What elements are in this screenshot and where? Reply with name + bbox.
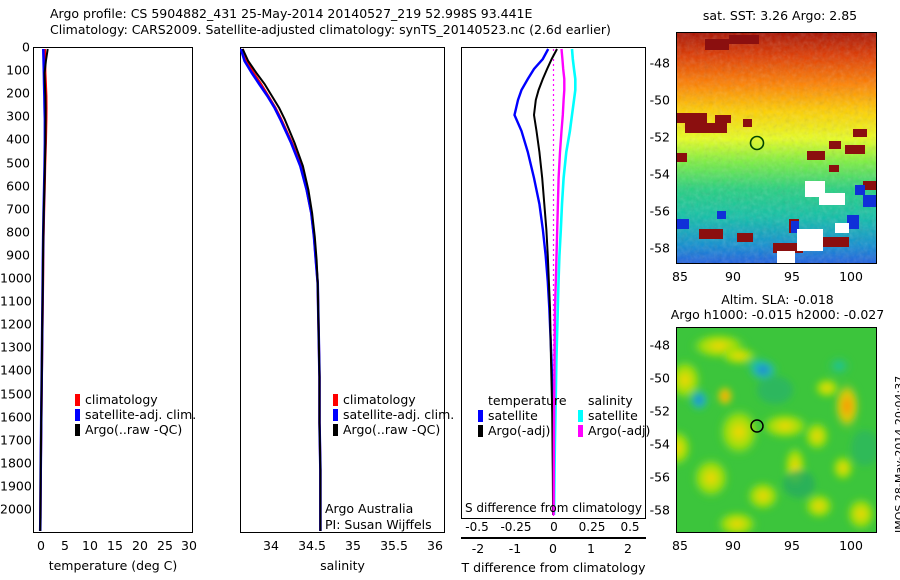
legend-item: satellite <box>478 408 567 423</box>
sst-y-tick: -54 <box>640 167 670 182</box>
legend-swatch-s-argo-adj <box>578 425 583 437</box>
temperature-x-axis-label: temperature (deg C) <box>33 558 193 573</box>
legend-item: Argo(..raw -QC) <box>333 422 454 437</box>
s-x-tick: 0.5 <box>620 520 639 534</box>
legend-item: satellite-adj. clim. <box>333 407 454 422</box>
x-tick: 0 <box>37 538 45 553</box>
sst-x-tick: 85 <box>672 269 688 284</box>
sla-x-tick: 85 <box>672 538 688 553</box>
salinity-legend: climatology satellite-adj. clim. Argo(..… <box>333 392 454 437</box>
x-tick: 20 <box>132 538 148 553</box>
sla-map-title: Altim. SLA: -0.018 Argo h1000: -0.015 h2… <box>655 292 900 322</box>
sla-x-tick: 100 <box>839 538 863 553</box>
t-difference-axis-line <box>461 537 646 539</box>
salinity-satellite-diff-line <box>554 49 575 515</box>
sst-map-image <box>677 33 876 263</box>
legend-header-temperature: temperature <box>488 393 567 408</box>
y-tick: 200 <box>0 86 30 101</box>
legend-swatch-satellite-adj <box>333 409 338 421</box>
sla-map-panel <box>676 327 877 533</box>
x-tick: 35 <box>345 538 361 553</box>
title-line-2: Climatology: CARS2009. Satellite-adjuste… <box>50 22 611 38</box>
y-tick: 700 <box>0 201 30 216</box>
legend-swatch-argo-raw <box>75 424 80 436</box>
sla-x-tick: 90 <box>725 538 741 553</box>
sla-y-tick: -48 <box>640 338 670 353</box>
s-x-tick: -0.25 <box>500 520 531 534</box>
y-tick: 0 <box>0 40 30 55</box>
figure-title: Argo profile: CS 5904882_431 25-May-2014… <box>50 6 611 38</box>
sla-map-image <box>677 328 876 532</box>
sst-y-tick: -48 <box>640 56 670 71</box>
sla-title-line-1: Altim. SLA: -0.018 <box>655 292 900 307</box>
salinity-plot-svg <box>240 47 445 533</box>
sla-y-tick: -54 <box>640 437 670 452</box>
sla-x-tick: 95 <box>784 538 800 553</box>
difference-plot-svg <box>461 47 646 519</box>
credit-line-1: Argo Australia <box>325 501 432 517</box>
sst-y-tick: -52 <box>640 130 670 145</box>
sst-x-tick: 90 <box>725 269 741 284</box>
legend-swatch-satellite-adj <box>75 409 80 421</box>
y-tick: 1800 <box>0 455 30 470</box>
sst-x-tick: 95 <box>784 269 800 284</box>
y-tick: 800 <box>0 224 30 239</box>
salinity-satellite-adj-line <box>241 49 321 531</box>
x-tick: 30 <box>181 538 197 553</box>
sst-y-tick: -50 <box>640 93 670 108</box>
legend-item: Argo(..raw -QC) <box>75 422 196 437</box>
salinity-x-axis-label: salinity <box>240 558 445 573</box>
credit-block: Argo Australia PI: Susan Wijffels <box>325 501 432 533</box>
s-x-tick: 0.25 <box>579 520 606 534</box>
y-tick: 1300 <box>0 340 30 355</box>
x-tick: 35.5 <box>380 538 408 553</box>
difference-legend-col-1: temperature satellite Argo(-adj) <box>478 393 567 438</box>
temperature-plot-svg <box>33 47 193 533</box>
t-x-tick: 0 <box>549 541 557 556</box>
legend-swatch-s-satellite <box>578 410 583 422</box>
sst-map-panel <box>676 32 877 264</box>
s-x-tick: 0 <box>550 520 558 534</box>
legend-swatch-t-satellite <box>478 410 483 422</box>
legend-item: satellite-adj. clim. <box>75 407 196 422</box>
y-tick: 1000 <box>0 271 30 286</box>
y-tick: 1900 <box>0 478 30 493</box>
legend-swatch-argo-raw <box>333 424 338 436</box>
x-tick: 10 <box>82 538 98 553</box>
x-tick: 15 <box>107 538 123 553</box>
legend-swatch-climatology <box>75 394 80 406</box>
legend-item: Argo(-adj) <box>478 423 567 438</box>
t-x-tick: -2 <box>472 541 484 556</box>
legend-swatch-climatology <box>333 394 338 406</box>
sla-y-tick: -58 <box>640 503 670 518</box>
y-tick: 1500 <box>0 386 30 401</box>
t-difference-axis-label: T difference from climatology <box>461 560 646 575</box>
t-x-tick: 2 <box>624 541 632 556</box>
credit-line-2: PI: Susan Wijffels <box>325 517 432 533</box>
y-tick: 1200 <box>0 317 30 332</box>
sla-title-line-2: Argo h1000: -0.015 h2000: -0.027 <box>655 307 900 322</box>
sst-y-tick: -56 <box>640 204 670 219</box>
title-line-1: Argo profile: CS 5904882_431 25-May-2014… <box>50 6 611 22</box>
sla-y-tick: -52 <box>640 404 670 419</box>
legend-item: climatology <box>75 392 196 407</box>
temperature-legend: climatology satellite-adj. clim. Argo(..… <box>75 392 196 437</box>
x-tick: 36 <box>427 538 443 553</box>
y-tick: 1400 <box>0 363 30 378</box>
y-tick: 1600 <box>0 409 30 424</box>
imos-timestamp: IMOS 28-May-2014 20:04:37 <box>893 376 900 533</box>
y-tick: 1100 <box>0 294 30 309</box>
x-tick: 5 <box>61 538 69 553</box>
y-tick: 600 <box>0 178 30 193</box>
y-tick: 400 <box>0 132 30 147</box>
s-x-tick: -0.5 <box>465 520 488 534</box>
x-tick: 34 <box>263 538 279 553</box>
t-x-tick: 1 <box>587 541 595 556</box>
y-tick: 300 <box>0 109 30 124</box>
y-tick: 900 <box>0 247 30 262</box>
y-tick: 100 <box>0 63 30 78</box>
y-tick: 1700 <box>0 432 30 447</box>
legend-item: climatology <box>333 392 454 407</box>
t-x-tick: -1 <box>509 541 521 556</box>
x-tick: 25 <box>157 538 173 553</box>
y-tick: 2000 <box>0 502 30 517</box>
sst-x-tick: 100 <box>839 269 863 284</box>
legend-swatch-t-argo-adj <box>478 425 483 437</box>
y-tick: 500 <box>0 155 30 170</box>
x-tick: 34.5 <box>298 538 326 553</box>
sla-y-tick: -56 <box>640 470 670 485</box>
s-difference-axis-label: S difference from climatology <box>461 501 646 515</box>
sst-map-title: sat. SST: 3.26 Argo: 2.85 <box>660 8 900 23</box>
sst-y-tick: -58 <box>640 241 670 256</box>
sla-y-tick: -50 <box>640 371 670 386</box>
